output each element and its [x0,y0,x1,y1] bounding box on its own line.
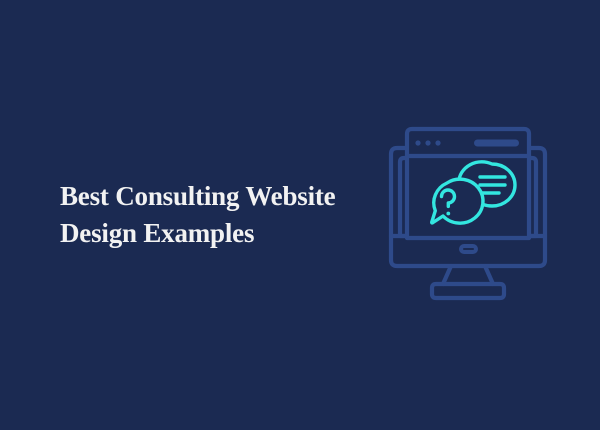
banner-card: Best Consulting Website Design Examples [0,0,600,430]
page-title-line-1: Best Consulting Website [60,178,380,215]
browser-window-dots [415,140,440,145]
question-mark-dot [446,212,450,216]
monitor-power-button [461,246,476,252]
monitor-stand-neck [443,266,493,284]
browser-dot-1 [415,140,420,145]
browser-dot-3 [435,140,440,145]
monitor-stand [432,266,504,298]
browser-address-bar [474,140,519,147]
page-title: Best Consulting Website Design Examples [60,178,380,252]
monitor-chat-illustration [378,118,558,308]
monitor-stand-base [432,284,504,298]
browser-dot-2 [425,140,430,145]
page-title-line-2: Design Examples [60,215,380,252]
